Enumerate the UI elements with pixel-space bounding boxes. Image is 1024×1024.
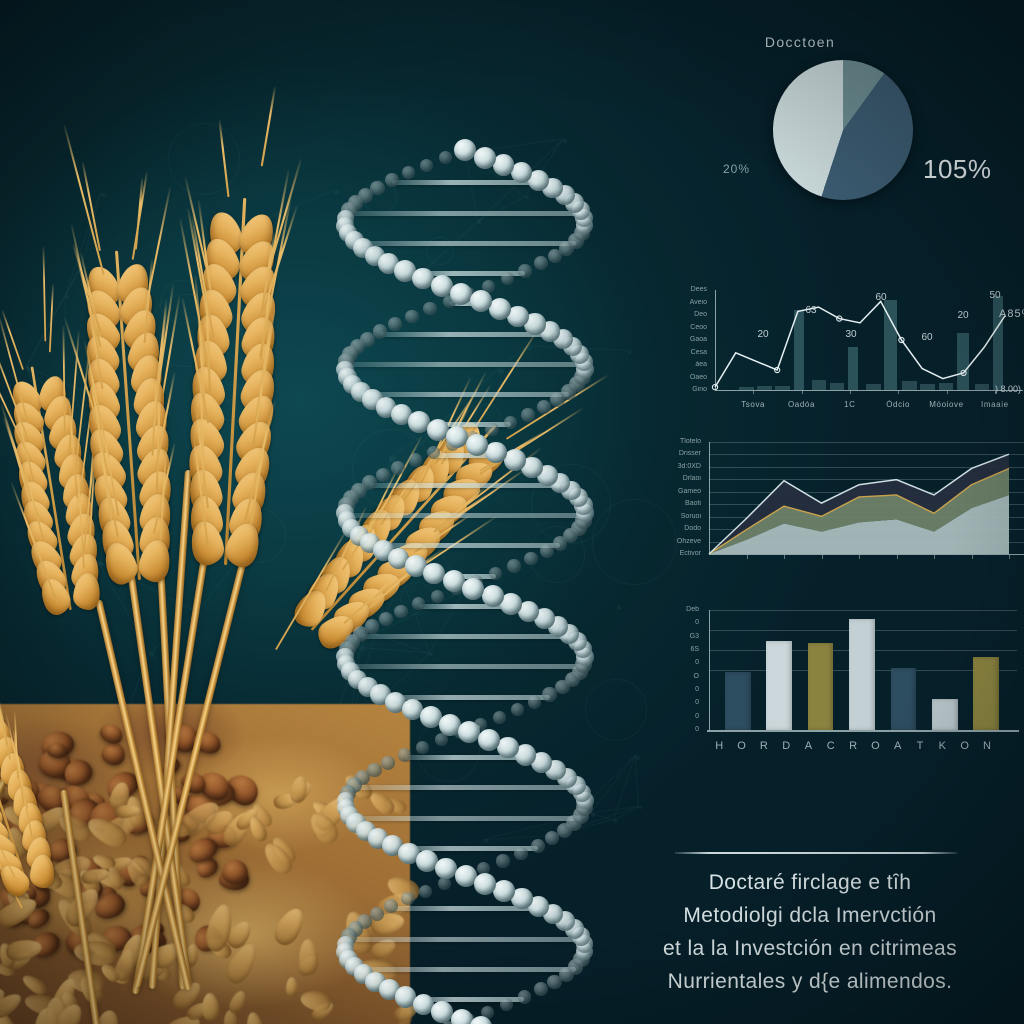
x-axis-tick xyxy=(859,554,860,559)
dna-bead xyxy=(405,310,418,323)
x-axis-label: Oadóa xyxy=(776,400,828,409)
network-node xyxy=(115,404,118,407)
caption-divider xyxy=(675,852,957,854)
dna-bead xyxy=(466,434,488,456)
dna-bead xyxy=(385,173,399,187)
data-label: 63 xyxy=(799,305,823,316)
dna-base-pair xyxy=(346,664,584,669)
dna-bead xyxy=(379,612,393,626)
x-axis-label: A xyxy=(799,740,819,752)
x-axis xyxy=(707,730,1019,732)
data-label: 60 xyxy=(869,292,893,303)
network-edge xyxy=(26,367,55,447)
dna-bead xyxy=(451,1009,473,1024)
dna-bead xyxy=(534,256,548,270)
bar xyxy=(808,643,834,730)
grain-kernel xyxy=(92,1007,122,1024)
dna-bead xyxy=(518,990,532,1004)
dna-bead xyxy=(401,892,415,906)
dna-bead xyxy=(438,877,451,890)
dna-bead xyxy=(474,147,496,169)
dna-base-pair xyxy=(361,392,569,397)
x-axis-label: O xyxy=(866,740,886,752)
dna-bead xyxy=(394,605,408,619)
x-axis-label: Tsova xyxy=(727,400,779,409)
dna-base-pair xyxy=(370,483,561,488)
grid-line xyxy=(709,610,1017,611)
infographic-canvas: Docctoen 20% 105% DeesAveioDeoCeooGaoaCe… xyxy=(0,0,1024,1024)
dna-base-pair xyxy=(349,816,581,821)
dna-bead xyxy=(402,166,416,180)
bar xyxy=(973,657,999,730)
dna-base-pair xyxy=(354,785,576,790)
x-axis-label: R xyxy=(844,740,864,752)
y-axis-label: G3 xyxy=(663,633,699,640)
dna-bead xyxy=(514,847,528,861)
pie-label-right: 105% xyxy=(923,154,992,185)
x-axis-label: C xyxy=(822,740,842,752)
network-edge xyxy=(149,612,198,653)
grain-kernel xyxy=(226,988,248,1015)
dna-bead xyxy=(409,453,422,466)
y-axis-label: 0 xyxy=(663,659,699,666)
dna-bead xyxy=(489,298,511,320)
data-label: 50 xyxy=(983,290,1007,301)
dna-bead xyxy=(435,858,457,880)
dna-bead xyxy=(419,885,432,898)
dna-base-pair xyxy=(346,362,584,367)
dna-bead xyxy=(384,899,398,913)
dna-bead xyxy=(376,468,390,482)
x-axis-label: K xyxy=(933,740,953,752)
y-axis-label: Deb xyxy=(663,606,699,613)
bar xyxy=(932,699,958,730)
x-axis-tick xyxy=(822,554,823,559)
dna-bead xyxy=(531,839,545,853)
x-axis-label: A xyxy=(888,740,908,752)
network-ring xyxy=(168,123,240,195)
x-axis-label: O xyxy=(955,740,975,752)
nut xyxy=(221,859,247,884)
dna-bead xyxy=(537,400,551,414)
nut xyxy=(158,755,182,778)
grain-kernel xyxy=(4,937,43,963)
network-ring xyxy=(212,384,250,422)
x-axis-tick xyxy=(934,554,935,559)
area-series-group xyxy=(663,428,1024,588)
x-axis-label: Ódcio xyxy=(872,400,924,409)
network-node xyxy=(231,233,236,238)
dna-bead xyxy=(398,748,412,762)
network-edge xyxy=(81,193,101,265)
dna-base-pair xyxy=(354,967,575,972)
dna-bead xyxy=(521,408,535,422)
caption-line: Metodiolgi dcla Imervctión xyxy=(600,899,1020,932)
dna-base-pair xyxy=(354,241,576,246)
network-edge xyxy=(65,404,116,406)
nut xyxy=(0,729,12,763)
dna-bead xyxy=(388,317,402,331)
dna-bead xyxy=(439,151,452,164)
nut xyxy=(98,721,127,747)
x-axis-label: D xyxy=(777,740,797,752)
x-axis-tick xyxy=(995,390,996,394)
x-axis-label: T xyxy=(911,740,931,752)
data-label: 20 xyxy=(951,310,975,321)
dna-bead xyxy=(454,139,476,161)
dna-bead xyxy=(540,544,554,558)
x-axis-tick xyxy=(784,554,785,559)
dna-bead xyxy=(381,756,395,770)
dna-bead xyxy=(504,416,517,429)
y-axis-label: O xyxy=(663,673,699,680)
dna-bead xyxy=(497,737,519,759)
line-chart: DeesAveioDeoCeooGaoaCesaáeaOaeoGino20633… xyxy=(663,272,1024,422)
y-axis xyxy=(709,610,710,730)
x-axis-tick xyxy=(898,390,899,394)
dna-bead xyxy=(496,854,509,867)
data-label: 60 xyxy=(915,332,939,343)
pie-chart: Docctoen 20% 105% xyxy=(655,34,1024,244)
data-panel: Docctoen 20% 105% DeesAveioDeoCeooGaoaCe… xyxy=(655,0,1024,1024)
x-axis-tick xyxy=(747,554,748,559)
caption-text: Doctaré firclage e tȋhMetodiolgi dcla Im… xyxy=(600,866,1020,998)
dna-bead xyxy=(391,461,405,475)
dna-bead xyxy=(470,290,492,312)
network-edge xyxy=(93,405,116,502)
network-edge xyxy=(93,501,98,562)
dna-bead xyxy=(474,873,496,895)
dna-bead xyxy=(534,982,548,996)
dna-bead xyxy=(504,449,526,471)
caption-line: Doctaré firclage e tȋh xyxy=(600,866,1020,899)
x-axis-label: Imaaie xyxy=(969,400,1021,409)
dna-bead xyxy=(420,159,433,172)
dna-base-pair xyxy=(361,634,569,639)
pie-label-left: 20% xyxy=(723,162,750,176)
network-edge xyxy=(26,366,116,405)
pie-chart-graphic xyxy=(773,60,913,200)
dna-base-pair xyxy=(349,211,581,216)
grain-kernel xyxy=(201,992,219,1021)
dna-bead xyxy=(507,559,520,572)
dna-bead xyxy=(416,741,429,754)
caption-line: Nurrientales y d{e alimendos. xyxy=(600,965,1020,998)
network-edge xyxy=(197,552,245,613)
dna-bead xyxy=(431,590,444,603)
x-axis-label: O xyxy=(732,740,752,752)
x-axis-label: 1C xyxy=(824,400,876,409)
dna-bead xyxy=(482,585,504,607)
network-edge xyxy=(64,296,65,406)
network-edge xyxy=(26,366,65,405)
y-axis-label: 0 xyxy=(663,619,699,626)
dna-bead xyxy=(524,552,538,566)
dna-bead xyxy=(431,1001,453,1023)
data-label: 30 xyxy=(839,329,863,340)
dna-bead xyxy=(500,998,513,1011)
bar-chart: Deb0G36S0O0000HORDACROATKON xyxy=(663,592,1024,777)
nut xyxy=(100,741,127,767)
annotation-right: A85% xyxy=(999,308,1024,320)
caption-line: et la la Investción en citrimeas xyxy=(600,932,1020,965)
dna-bead xyxy=(373,324,387,338)
dna-bead xyxy=(450,283,472,305)
dna-base-pair xyxy=(345,513,585,518)
dna-bead xyxy=(518,264,532,278)
dna-bead xyxy=(485,423,498,436)
dna-bead xyxy=(500,593,522,615)
y-axis-label: 0 xyxy=(663,686,699,693)
dna-bead xyxy=(511,703,524,716)
x-axis-label: Móoiove xyxy=(921,400,973,409)
x-axis-tick xyxy=(802,390,803,394)
x-axis-label: N xyxy=(978,740,998,752)
dna-bead xyxy=(478,729,500,751)
network-edge xyxy=(231,233,244,341)
grain-kernel xyxy=(166,858,193,889)
annotation-axis-end: ) 8.00) xyxy=(995,384,1024,394)
dna-base-pair xyxy=(349,937,581,942)
dna-bead xyxy=(423,563,445,585)
x-axis-tick xyxy=(947,390,948,394)
x-axis-tick xyxy=(1009,554,1010,559)
dna-bead xyxy=(462,578,484,600)
x-axis-label: R xyxy=(755,740,775,752)
bar xyxy=(766,641,792,730)
area-chart: TloteloDrisser3d:0XDDrlaoiGameoBaotiSoru… xyxy=(663,428,1024,588)
x-axis-tick xyxy=(897,554,898,559)
x-axis-label: H xyxy=(710,740,730,752)
bar xyxy=(725,672,751,730)
data-label: 20 xyxy=(751,329,775,340)
bar xyxy=(891,668,917,730)
dna-bead xyxy=(489,567,502,580)
dna-bead xyxy=(423,302,436,315)
y-axis-label: 0 xyxy=(663,699,699,706)
network-edge xyxy=(65,512,98,563)
y-axis-label: 0 xyxy=(663,713,699,720)
network-ring xyxy=(160,280,204,324)
dna-bead xyxy=(493,711,506,724)
x-axis-tick xyxy=(753,390,754,394)
dna-bead xyxy=(493,880,515,902)
dna-base-pair xyxy=(380,332,550,337)
dna-bead xyxy=(528,695,542,709)
dna-bead xyxy=(501,272,514,285)
y-axis-label: 0 xyxy=(663,726,699,733)
dna-bead xyxy=(370,907,384,921)
network-edge xyxy=(66,501,94,513)
bar xyxy=(849,619,875,730)
pie-chart-title: Docctoen xyxy=(655,34,945,50)
network-node xyxy=(243,341,246,344)
x-axis-tick xyxy=(850,390,851,394)
y-axis-label: 6S xyxy=(663,646,699,653)
dna-base-pair xyxy=(380,695,549,700)
x-axis-tick xyxy=(972,554,973,559)
